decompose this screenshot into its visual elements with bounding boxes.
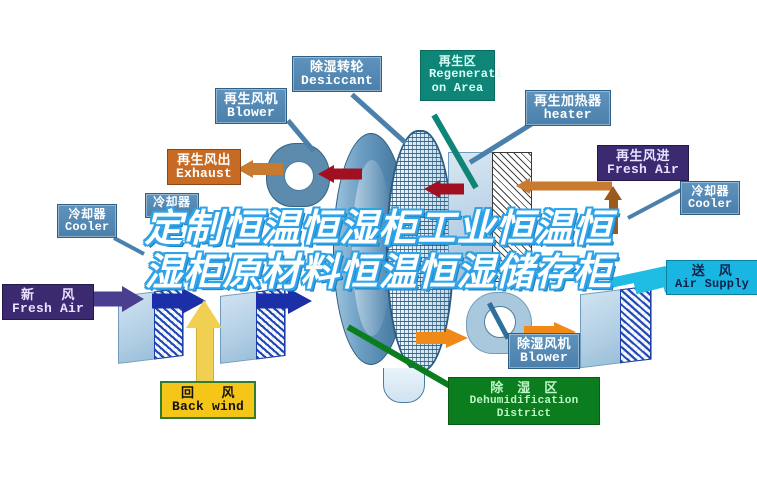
label-dehum-district-cn: 除 湿 区 (459, 381, 589, 395)
label-desiccant-rotor-en: Desiccant (301, 74, 373, 88)
label-regen-blower-en: Blower (224, 106, 278, 120)
arrow-regen-out-of-wheel (318, 165, 362, 183)
label-dehum-district[interactable]: 除 湿 区 Dehumidification District (448, 377, 600, 425)
label-cooler-right-cn: 冷却器 (688, 185, 732, 198)
label-regen-blower[interactable]: 再生风机 Blower (215, 88, 287, 124)
label-cooler-right[interactable]: 冷却器 Cooler (680, 181, 740, 215)
arrow-regen-hot-to-wheel (424, 180, 464, 198)
label-desiccant-rotor[interactable]: 除湿转轮 Desiccant (292, 56, 382, 92)
label-fresh-air-in-en: Fresh Air (12, 302, 84, 316)
label-exhaust-en: Exhaust (176, 167, 232, 181)
label-fresh-air-in-cn: 新 风 (12, 288, 84, 302)
label-back-wind[interactable]: 回 风 Back wind (160, 381, 256, 419)
label-dehum-blower-cn: 除湿风机 (517, 337, 571, 351)
label-exhaust-cn: 再生风出 (176, 153, 232, 167)
label-regen-area-cn: 再生区 (429, 55, 486, 68)
label-desiccant-rotor-cn: 除湿转轮 (301, 60, 373, 74)
label-cooler-left-2-cn: 冷却器 (153, 196, 191, 209)
label-dehum-blower[interactable]: 除湿风机 Blower (508, 333, 580, 369)
label-regen-blower-cn: 再生风机 (224, 92, 278, 106)
label-cooler-left-1[interactable]: 冷却器 Cooler (57, 204, 117, 238)
label-regen-heater-cn: 再生加热器 (534, 94, 602, 108)
label-regen-fresh-air-en: Fresh Air (607, 163, 679, 177)
arrow-dry-air-1 (416, 328, 472, 348)
label-cooler-right-en: Cooler (688, 198, 732, 211)
label-air-supply-cn: 送 风 (675, 264, 749, 278)
label-dehum-blower-en: Blower (517, 351, 571, 365)
arrow-back-wind-up (186, 300, 222, 384)
leader-cooler-right (627, 188, 682, 220)
arrow-exhaust-flow (237, 160, 283, 178)
label-dehum-district-en: Dehumidification District (459, 395, 589, 421)
label-cooler-left-2[interactable]: 冷却器 (145, 193, 199, 218)
label-cooler-left-1-en: Cooler (65, 221, 109, 234)
label-fresh-air-in[interactable]: 新 风 Fresh Air (2, 284, 94, 320)
label-air-supply[interactable]: 送 风 Air Supply (666, 260, 757, 295)
dehumidifier-diagram: 除湿转轮 Desiccant 再生风机 Blower 再生区 Regenerat… (0, 0, 757, 488)
arrow-fresh-air-intake (92, 286, 144, 312)
label-exhaust[interactable]: 再生风出 Exhaust (167, 149, 241, 185)
label-regen-fresh-air-cn: 再生风进 (607, 149, 679, 163)
regen-heater-fins (492, 152, 532, 282)
label-back-wind-en: Back wind (172, 400, 244, 414)
label-regen-fresh-air[interactable]: 再生风进 Fresh Air (597, 145, 689, 181)
label-cooler-left-1-cn: 冷却器 (65, 208, 109, 221)
arrow-regen-air-up (604, 186, 622, 234)
label-regen-area[interactable]: 再生区 Regenerati on Area (420, 50, 495, 101)
leader-cooler-left (113, 236, 145, 255)
label-air-supply-en: Air Supply (675, 278, 749, 291)
drain-tray (383, 368, 425, 403)
fan-hub (284, 161, 314, 191)
label-back-wind-cn: 回 风 (172, 386, 244, 400)
label-regen-area-en: Regenerati on Area (429, 68, 486, 96)
label-regen-heater-en: heater (534, 108, 602, 122)
label-regen-heater[interactable]: 再生加热器 heater (525, 90, 611, 126)
arrow-process-air-2 (256, 288, 316, 314)
